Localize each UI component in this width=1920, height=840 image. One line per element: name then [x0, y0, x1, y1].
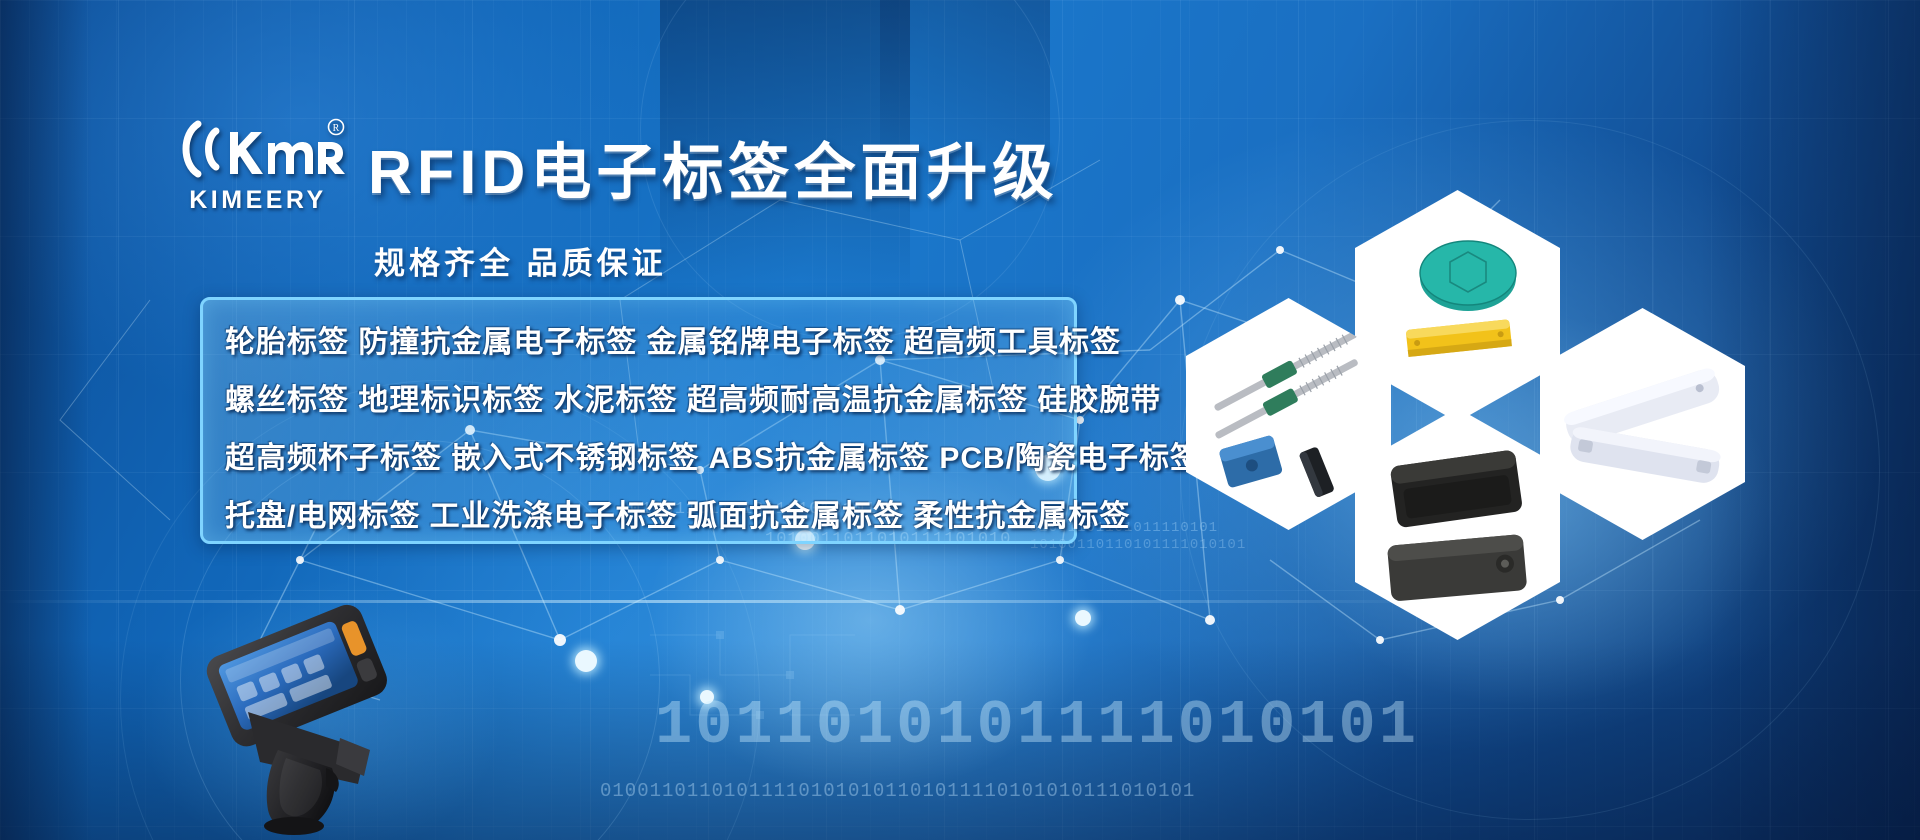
- page-subtitle: 规格齐全 品质保证: [374, 238, 667, 283]
- network-node-glow-c: [1075, 610, 1091, 626]
- tag-category-row: 托盘/电网标签 工业洗涤电子标签 弧面抗金属标签 柔性抗金属标签: [225, 488, 1052, 546]
- rfid-promo-banner: 0100110110101111010101 10100110110101111…: [0, 0, 1920, 840]
- binary-decor-e: 0100110110101111010101011010111101010101…: [600, 780, 1195, 802]
- registered-mark-icon: R: [329, 120, 344, 135]
- handheld-reader-icon: [190, 600, 430, 835]
- handheld-rfid-reader[interactable]: [190, 600, 430, 835]
- tag-category-row: 螺丝标签 地理标识标签 水泥标签 超高频耐高温抗金属标签 硅胶腕带: [225, 372, 1052, 430]
- brand-logo[interactable]: R KIMEERY: [168, 118, 348, 215]
- circuit-trace-decor: [640, 615, 870, 735]
- page-title: RFID电子标签全面升级: [368, 122, 1058, 211]
- tag-category-row: 超高频杯子标签 嵌入式不锈钢标签 ABS抗金属标签 PCB/陶瓷电子标签: [225, 430, 1052, 488]
- kimeery-signal-mark-icon: R: [168, 118, 348, 180]
- brand-wordmark: KIMEERY: [168, 186, 348, 215]
- svg-text:R: R: [333, 123, 340, 134]
- network-node-glow-d: [575, 650, 597, 672]
- tag-category-panel: 轮胎标签 防撞抗金属电子标签 金属铭牌电子标签 超高频工具标签 螺丝标签 地理标…: [200, 297, 1077, 544]
- tag-category-row: 轮胎标签 防撞抗金属电子标签 金属铭牌电子标签 超高频工具标签: [225, 314, 1052, 372]
- horizon-light-streak: [0, 600, 1920, 603]
